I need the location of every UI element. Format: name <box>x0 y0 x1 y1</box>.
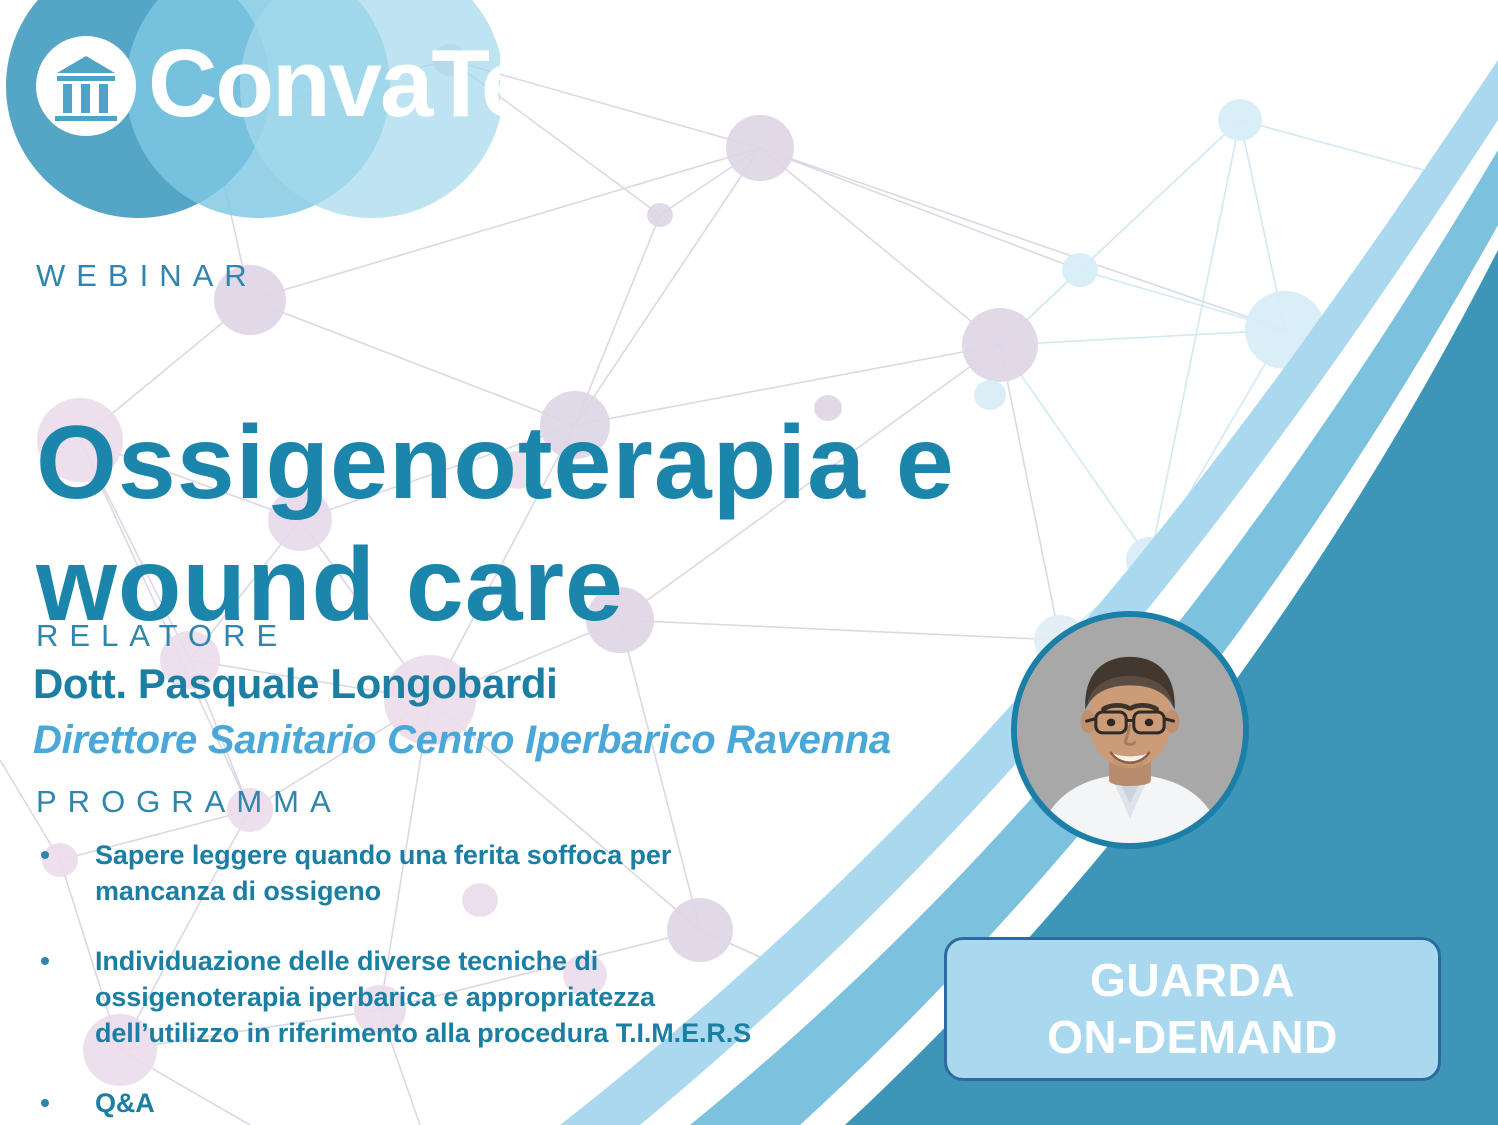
agenda-item-text: Q&A <box>95 1088 155 1118</box>
agenda-item: Q&A <box>33 1086 793 1122</box>
webinar-poster: ConvaTec WEBINAR Ossigenoterapia e wound… <box>0 0 1498 1125</box>
convatec-logo: ConvaTec <box>0 0 500 234</box>
speaker-section-label: RELATORE <box>36 618 288 654</box>
agenda-item-text: Sapere leggere quando una ferita soffoca… <box>95 840 671 906</box>
bullet-dot-icon <box>41 957 49 965</box>
speaker-name: Dott. Pasquale Longobardi <box>33 660 557 708</box>
bullet-dot-icon <box>41 851 49 859</box>
cta-line-2: ON-DEMAND <box>1047 1009 1338 1066</box>
logo-wordmark: ConvaTec <box>148 30 500 137</box>
agenda-item: Sapere leggere quando una ferita soffoca… <box>33 838 793 910</box>
speaker-avatar <box>1011 611 1249 849</box>
webinar-eyebrow-label: WEBINAR <box>36 258 258 294</box>
agenda-section-label: PROGRAMMA <box>36 784 342 820</box>
agenda-list: Sapere leggere quando una ferita soffoca… <box>33 838 793 1121</box>
agenda-item-text: Individuazione delle diverse tecniche di… <box>95 946 751 1048</box>
agenda-item: Individuazione delle diverse tecniche di… <box>33 944 793 1052</box>
page-title-line-1: Ossigenoterapia e <box>36 402 1166 525</box>
cta-line-1: GUARDA <box>1090 952 1295 1009</box>
speaker-role: Direttore Sanitario Centro Iperbarico Ra… <box>33 718 891 763</box>
watch-on-demand-button[interactable]: GUARDA ON-DEMAND <box>944 937 1441 1081</box>
bullet-dot-icon <box>41 1099 49 1107</box>
page-title: Ossigenoterapia e wound care <box>36 402 1166 647</box>
